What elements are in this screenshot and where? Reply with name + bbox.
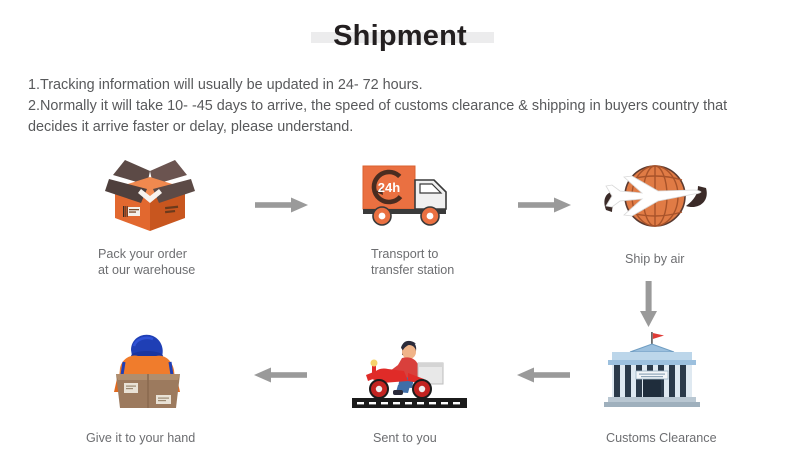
step-4-caption: Customs Clearance	[606, 430, 717, 446]
step-5-caption: Sent to you	[373, 430, 437, 446]
note-line-2: 2.Normally it will take 10- -45 days to …	[28, 96, 770, 138]
page-title-wrap: Shipment	[0, 22, 800, 51]
step-1-icon-wrap	[95, 155, 215, 233]
page-title: Shipment	[333, 20, 467, 52]
step-5-icon-wrap	[352, 335, 472, 413]
arrow-scooter-to-hand	[252, 365, 307, 385]
globe-airplane-icon	[598, 158, 713, 238]
arrow-air-to-customs	[638, 281, 660, 329]
shipment-notes: 1.Tracking information will usually be u…	[28, 75, 770, 138]
arrow-box-to-truck	[255, 195, 310, 215]
step-3-icon-wrap	[598, 158, 718, 236]
step-1-caption: Pack your order at our warehouse	[98, 246, 195, 278]
delivery-truck-icon: 24h	[360, 162, 460, 230]
step-2-caption: Transport to transfer station	[371, 246, 454, 278]
delivery-scooter-icon	[352, 335, 467, 413]
step-2-icon-wrap: 24h	[360, 162, 480, 240]
note-line-1: 1.Tracking information will usually be u…	[28, 75, 770, 96]
step-4-icon-wrap	[600, 330, 720, 408]
truck-badge-label: 24h	[378, 180, 400, 195]
arrow-truck-to-air	[518, 195, 573, 215]
step-6-icon-wrap	[98, 330, 218, 408]
arrow-customs-to-scooter	[515, 365, 570, 385]
step-3-caption: Ship by air	[625, 251, 685, 267]
customs-building-icon	[600, 330, 705, 410]
step-6-caption: Give it to your hand	[86, 430, 195, 446]
cardboard-box-icon	[95, 155, 205, 235]
shipment-infographic: Shipment 1.Tracking information will usu…	[0, 0, 800, 463]
person-holding-box-icon	[98, 330, 198, 410]
shipment-flow: Pack your order at our warehouse	[0, 150, 800, 463]
